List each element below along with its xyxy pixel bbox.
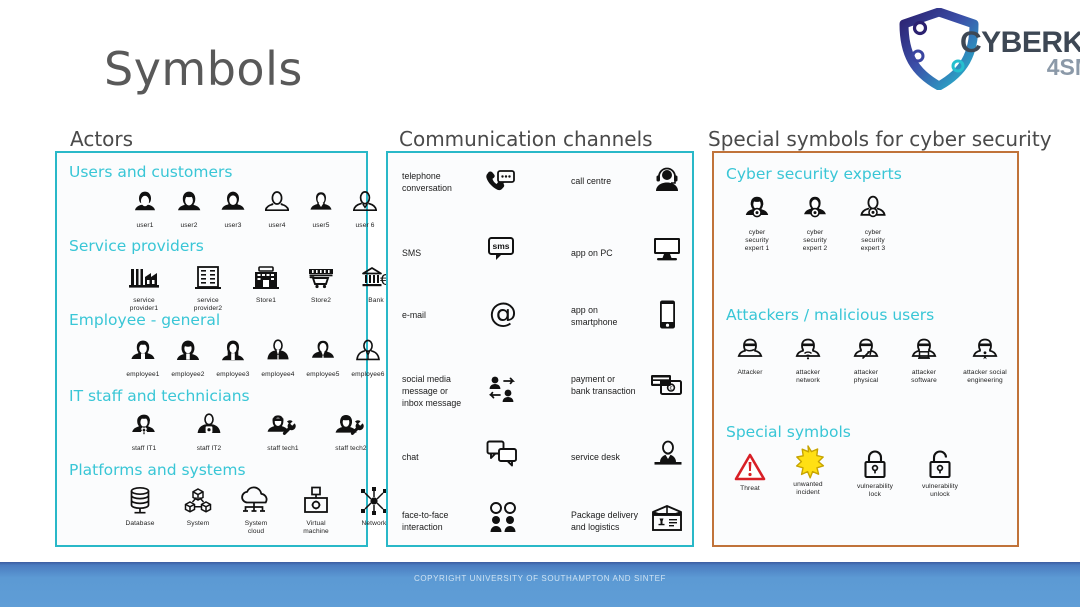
desktop-pc-icon[interactable] (652, 236, 682, 264)
symbol-label: staff IT2 (180, 445, 238, 453)
group-title-special-symbols: Special symbols (726, 423, 851, 441)
symbol-vulnerability-unlock[interactable]: vulnerability unlock (909, 447, 971, 499)
staff-it-icon (180, 409, 238, 443)
page-title: Symbols (104, 42, 303, 96)
attacker-network-icon (782, 333, 834, 367)
social-message-icon[interactable] (487, 375, 519, 407)
cloud-system-icon (229, 484, 283, 518)
virtual-machine-icon (289, 484, 343, 518)
phone-chat-icon[interactable] (484, 169, 516, 197)
attacker-physical-icon (840, 333, 892, 367)
symbol-label: attacker physical (840, 369, 892, 385)
label-package-delivery: Package delivery and logistics (571, 510, 638, 534)
symbol-label: Attacker (724, 369, 776, 377)
symbol-label: attacker network (782, 369, 834, 385)
group-title-platforms: Platforms and systems (69, 461, 246, 479)
smartphone-icon[interactable] (655, 299, 679, 331)
system-nodes-icon (171, 484, 225, 518)
sms-bubble-icon[interactable]: sms (486, 235, 516, 265)
factory-icon (115, 261, 173, 295)
group-title-users: Users and customers (69, 163, 232, 181)
face-to-face-icon[interactable] (487, 502, 519, 534)
service-desk-icon[interactable] (653, 440, 683, 470)
symbol-staff-tech1[interactable]: staff tech1 (252, 409, 314, 453)
group-title-it-staff: IT staff and technicians (69, 387, 250, 405)
symbol-database[interactable]: Database (113, 484, 167, 528)
symbol-cyber-expert-1[interactable]: cyber security expert 1 (728, 193, 786, 254)
cyberkit-logo: CYBERKIT 4SME (892, 6, 1072, 92)
svg-text:sms: sms (492, 241, 509, 251)
symbol-service-provider1[interactable]: service provider1 (115, 261, 173, 313)
symbol-cyber-expert-3[interactable]: cyber security expert 3 (844, 193, 902, 254)
column-header-communication: Communication channels (399, 127, 653, 151)
svg-text:€: € (670, 386, 673, 392)
symbol-label: staff IT1 (115, 445, 173, 453)
symbol-label: System cloud (229, 520, 283, 536)
padlock-locked-icon (844, 447, 906, 481)
symbol-label: Threat (722, 485, 778, 493)
symbol-label: user 6 (339, 222, 391, 230)
attacker-social-icon (954, 333, 1016, 367)
symbol-attacker-physical[interactable]: attacker physical (840, 333, 892, 385)
symbol-store1[interactable]: Store1 (241, 261, 291, 305)
column-header-special: Special symbols for cyber security (708, 127, 1052, 151)
symbol-label: cyber security expert 3 (844, 229, 902, 254)
symbol-service-provider2[interactable]: service provider2 (179, 261, 237, 313)
office-building-icon (179, 261, 237, 295)
padlock-unlocked-icon (909, 447, 971, 481)
symbol-system[interactable]: System (171, 484, 225, 528)
symbol-staff-tech2[interactable]: staff tech2 (320, 409, 382, 453)
label-sms: SMS (402, 248, 421, 260)
staff-tech-icon (320, 409, 382, 443)
symbol-label: attacker social engineering (954, 369, 1016, 385)
symbol-label: Store1 (241, 297, 291, 305)
panel-special-symbols: Cyber security experts cyber security ex… (712, 151, 1019, 547)
panel-actors: Users and customers user1 user2 user3 us… (55, 151, 368, 547)
symbol-label: vulnerability lock (844, 483, 906, 499)
symbol-vulnerability-lock[interactable]: vulnerability lock (844, 447, 906, 499)
symbol-label: vulnerability unlock (909, 483, 971, 499)
label-service-desk: service desk (571, 452, 620, 464)
symbol-user6[interactable]: user 6 (339, 186, 391, 230)
group-title-employee: Employee - general (69, 311, 220, 329)
headset-person-icon[interactable] (652, 167, 682, 197)
attacker-software-icon (898, 333, 950, 367)
label-call-centre: call centre (571, 176, 611, 188)
at-sign-icon[interactable]: @ (488, 298, 518, 328)
threat-triangle-icon (722, 449, 778, 483)
symbol-label: Virtual machine (289, 520, 343, 536)
logo-wordmark-bottom: 4SME (960, 56, 1080, 79)
footer-bar: COPYRIGHT UNIVERSITY OF SOUTHAMPTON AND … (0, 562, 1080, 607)
group-title-service-providers: Service providers (69, 237, 204, 255)
symbol-label: attacker software (898, 369, 950, 385)
staff-tech-icon (252, 409, 314, 443)
symbol-label: cyber security expert 1 (728, 229, 786, 254)
symbol-cyber-expert-2[interactable]: cyber security expert 2 (786, 193, 844, 254)
cash-card-icon[interactable]: € (650, 373, 684, 399)
chat-bubbles-icon[interactable] (486, 440, 518, 468)
group-title-attackers: Attackers / malicious users (726, 306, 934, 324)
user-male-icon (339, 186, 391, 220)
staff-it-icon (115, 409, 173, 443)
footer-copyright: COPYRIGHT UNIVERSITY OF SOUTHAMPTON AND … (0, 574, 1080, 583)
label-chat: chat (402, 452, 419, 464)
symbol-unwanted-incident[interactable]: unwanted incident (780, 445, 836, 497)
symbol-attacker[interactable]: Attacker (724, 333, 776, 377)
expert-neutral-icon (844, 193, 902, 227)
panel-communication-channels: telephone conversation call centre SMS s… (386, 151, 694, 547)
label-app-on-smartphone: app on smartphone (571, 305, 617, 329)
symbol-attacker-social-engineering[interactable]: attacker social engineering (954, 333, 1016, 385)
symbol-label: staff tech2 (320, 445, 382, 453)
svg-text:@: @ (489, 298, 517, 328)
label-payment-bank-transaction: payment or bank transaction (571, 374, 636, 398)
slide-canvas: CYBERKIT 4SME Symbols Actors Communicati… (0, 0, 1080, 607)
symbol-store2[interactable]: Store2 (296, 261, 346, 305)
symbol-staff-it2[interactable]: staff IT2 (180, 409, 238, 453)
label-app-on-pc: app on PC (571, 248, 613, 260)
attacker-icon (724, 333, 776, 367)
symbol-attacker-network[interactable]: attacker network (782, 333, 834, 385)
symbol-staff-it1[interactable]: staff IT1 (115, 409, 173, 453)
symbol-system-cloud[interactable]: System cloud (229, 484, 283, 536)
group-title-cyber-experts: Cyber security experts (726, 165, 902, 183)
symbol-label: Store2 (296, 297, 346, 305)
label-face-to-face: face-to-face interaction (402, 510, 448, 534)
shop-cart-icon (296, 261, 346, 295)
column-header-actors: Actors (70, 127, 133, 151)
symbol-virtual-machine[interactable]: Virtual machine (289, 484, 343, 536)
symbol-threat[interactable]: Threat (722, 449, 778, 493)
symbol-label: Database (113, 520, 167, 528)
symbol-attacker-software[interactable]: attacker software (898, 333, 950, 385)
expert-male-icon (786, 193, 844, 227)
database-icon (113, 484, 167, 518)
label-social-media-message: social media message or inbox message (402, 374, 461, 410)
symbol-label: staff tech1 (252, 445, 314, 453)
store-building-icon (241, 261, 291, 295)
symbol-label: cyber security expert 2 (786, 229, 844, 254)
package-box-icon[interactable] (651, 504, 683, 534)
symbol-label: System (171, 520, 225, 528)
unwanted-incident-icon (780, 445, 836, 479)
expert-female-icon (728, 193, 786, 227)
symbol-label: unwanted incident (780, 481, 836, 497)
label-telephone-conversation: telephone conversation (402, 171, 452, 195)
label-email: e-mail (402, 310, 426, 322)
